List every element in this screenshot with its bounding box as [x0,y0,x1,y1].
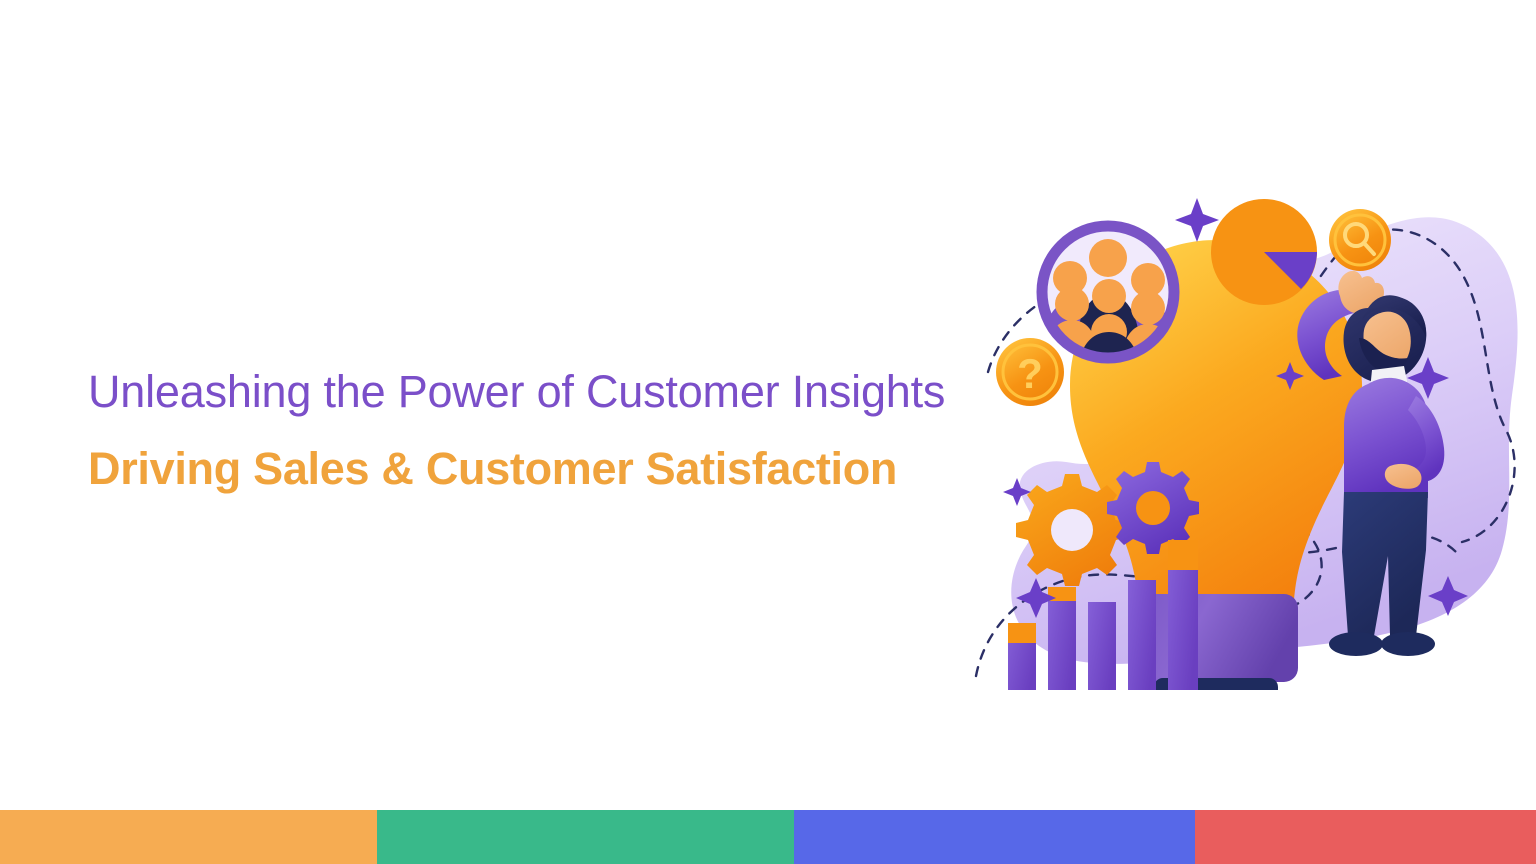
slide-canvas: Unleashing the Power of Customer Insight… [0,0,1536,864]
footer-segment-red [1195,810,1536,864]
page-subtitle: Driving Sales & Customer Satisfaction [88,442,988,497]
pie-chart-icon [1211,199,1317,305]
hero-illustration: ? [916,180,1536,690]
footer-segment-orange [0,810,377,864]
title-block: Unleashing the Power of Customer Insight… [88,365,988,497]
gear-orange-icon [1016,474,1128,586]
search-coin-icon [1329,209,1391,271]
footer-segment-green [377,810,794,864]
question-coin-icon: ? [996,338,1064,406]
footer-color-bar [0,810,1536,864]
page-title: Unleashing the Power of Customer Insight… [88,365,988,420]
footer-segment-blue [794,810,1195,864]
svg-text:?: ? [1017,350,1043,397]
